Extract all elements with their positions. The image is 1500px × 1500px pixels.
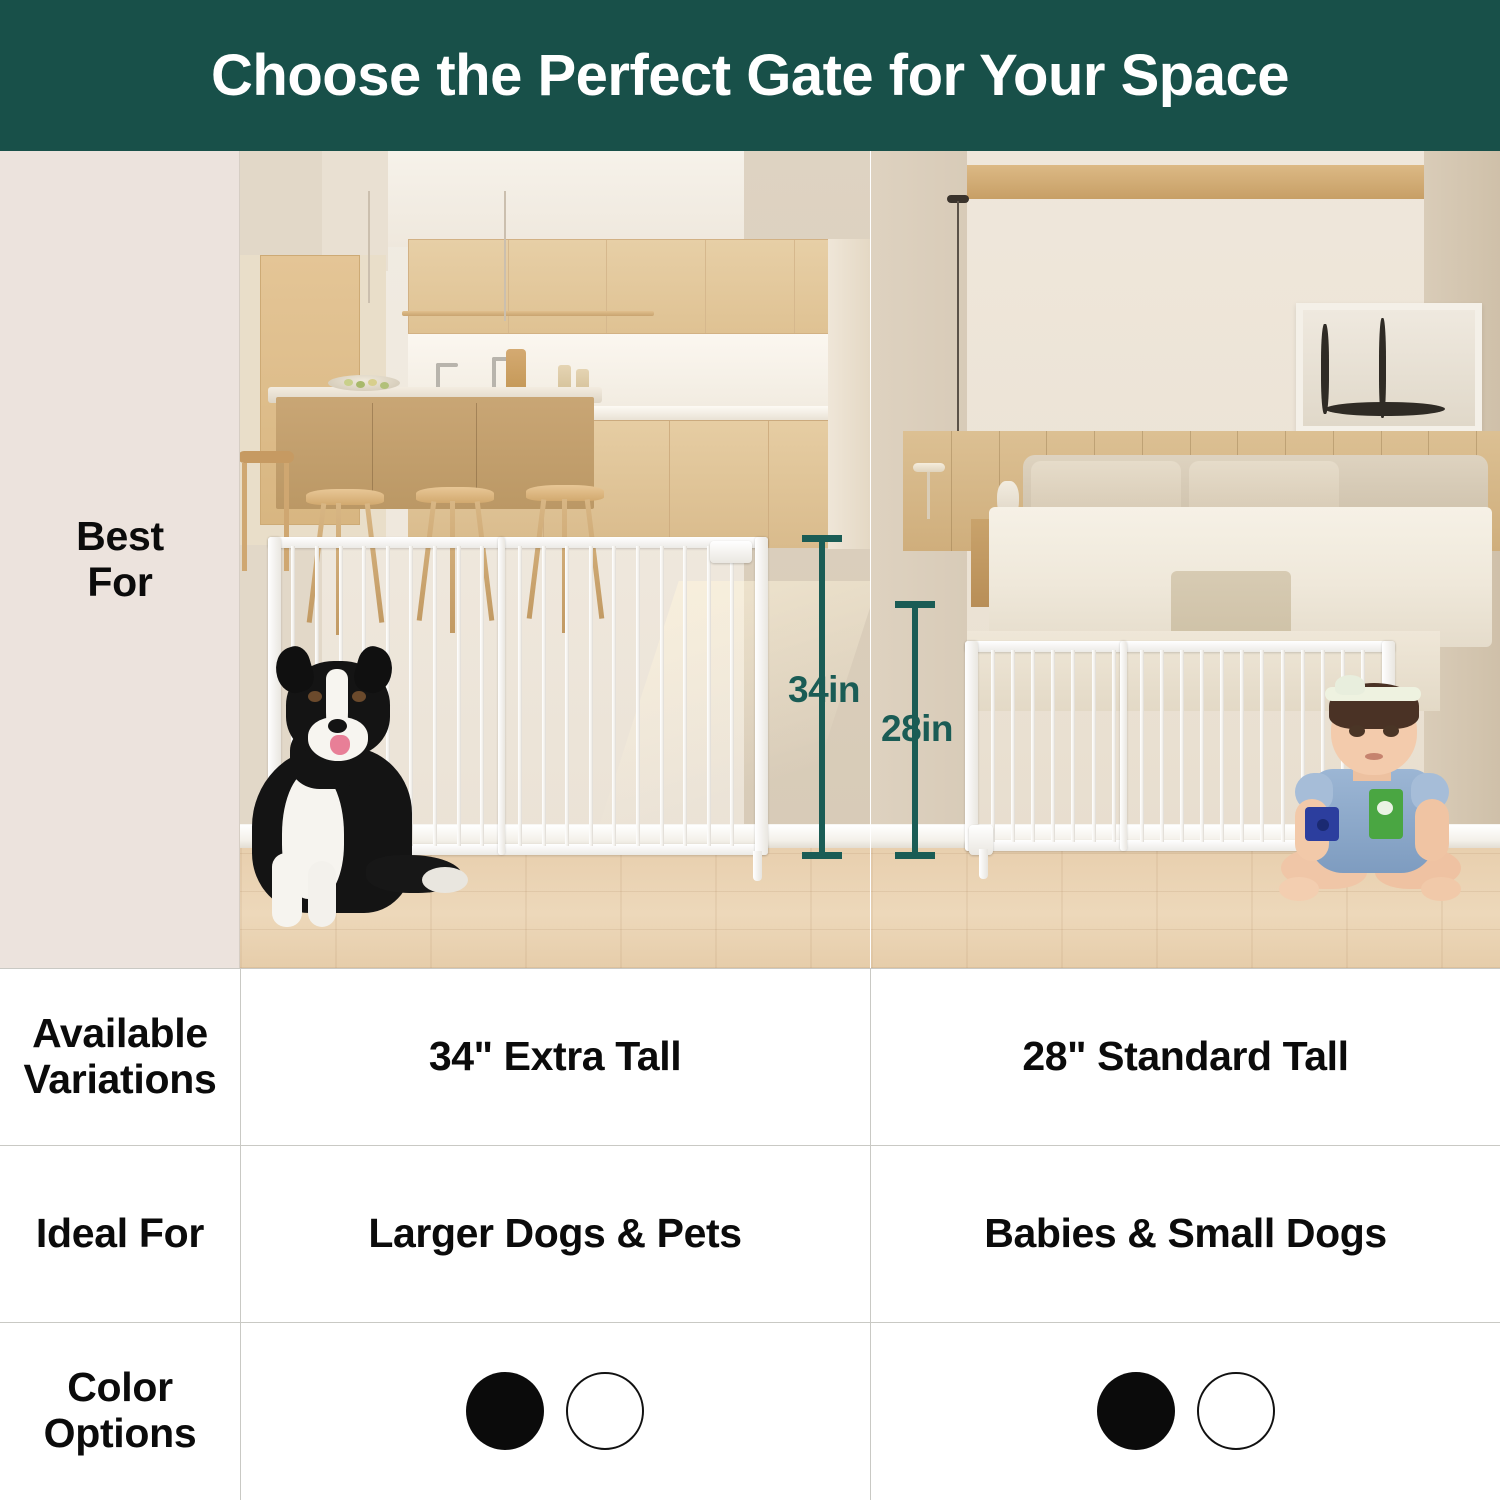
cell-variation-left: 34" Extra Tall [240,968,870,1145]
grid-vline-label [240,968,241,1500]
grid-hline-1 [0,968,1500,969]
color-swatch-white[interactable] [1197,1372,1275,1450]
ideal-for-line1: Ideal For [36,1211,204,1257]
grid-vline-center [870,968,871,1500]
color-swatches-right [1097,1372,1275,1450]
cell-ideal-right: Babies & Small Dogs [871,1145,1500,1322]
cell-colors-right [871,1322,1500,1500]
grid-vline-label-hero [239,151,240,968]
row-label-best-for: Best For [0,151,240,968]
row-label-ideal-for: Ideal For [0,1145,240,1322]
best-for-line2: For [76,560,164,606]
row-ideal-for: Ideal For Larger Dogs & Pets Babies & Sm… [0,1145,1500,1322]
baby-toddler [1279,681,1469,931]
row-color-options: Color Options [0,1322,1500,1500]
hero-row: Best For [0,151,1500,968]
color-swatches-left [466,1372,644,1450]
kitchen-upper-cabinets [408,239,858,334]
photo-kitchen-with-dog [240,151,870,968]
best-for-line1: Best [76,514,164,560]
grid-hline-2 [0,1145,1500,1146]
row-label-color-options: Color Options [0,1322,240,1500]
cell-variation-right: 28" Standard Tall [871,968,1500,1145]
dimension-label-34in: 34in [788,669,860,711]
dog-border-collie [246,639,456,929]
row-available-variations: Available Variations 34" Extra Tall 28" … [0,968,1500,1145]
framed-wall-art [1296,303,1482,433]
cell-ideal-left: Larger Dogs & Pets [240,1145,870,1322]
color-options-line2: Options [44,1411,197,1457]
dimension-label-28in: 28in [881,708,953,750]
available-variations-line2: Variations [24,1057,217,1103]
comparison-infographic: Choose the Perfect Gate for Your Space B… [0,0,1500,1500]
cell-colors-left [240,1322,870,1500]
page-title: Choose the Perfect Gate for Your Space [211,42,1289,109]
variation-right-value: 28" Standard Tall [1022,1033,1348,1080]
row-label-available-variations: Available Variations [0,968,240,1145]
available-variations-line1: Available [24,1011,217,1057]
header-banner: Choose the Perfect Gate for Your Space [0,0,1500,151]
color-swatch-black[interactable] [1097,1372,1175,1450]
grid-hline-3 [0,1322,1500,1323]
color-swatch-white[interactable] [566,1372,644,1450]
photo-bedroom-with-baby [871,151,1500,968]
color-swatch-black[interactable] [466,1372,544,1450]
color-options-line1: Color [44,1365,197,1411]
variation-left-value: 34" Extra Tall [429,1033,681,1080]
ideal-left-value: Larger Dogs & Pets [368,1210,741,1257]
ideal-right-value: Babies & Small Dogs [984,1210,1387,1257]
